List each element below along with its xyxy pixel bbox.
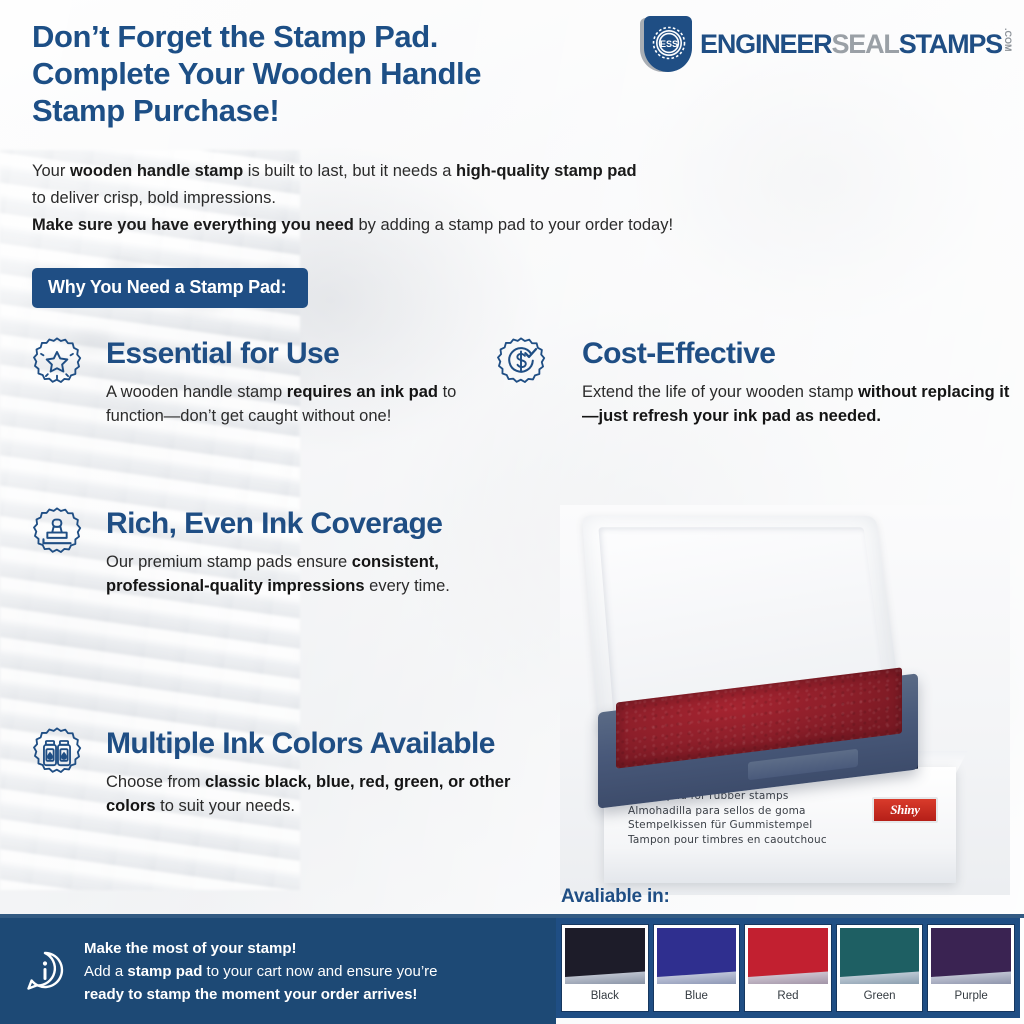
carton-label-fr: Tampon pour timbres en caoutchouc xyxy=(628,833,827,848)
cta-line-3: ready to stamp the moment your order arr… xyxy=(84,983,438,1006)
intro-line1-c: is built to last, but it needs a xyxy=(243,162,456,180)
swatch-color-green xyxy=(840,928,920,984)
stamp-pad-promo-infographic: Don’t Forget the Stamp Pad. Complete You… xyxy=(0,0,1024,1024)
feature-cost-effective: Cost-Effective Extend the life of your w… xyxy=(492,336,1012,428)
feature-body-c: to suit your needs. xyxy=(156,797,295,815)
intro-line1-bold2: high-quality stamp pad xyxy=(456,162,637,180)
swatch-color-purple xyxy=(931,928,1011,984)
tray-notch xyxy=(748,749,858,781)
headline-line-1: Don’t Forget the Stamp Pad. xyxy=(32,18,642,55)
badge-dollar-check-icon xyxy=(492,336,550,394)
intro-line2: to deliver crisp, bold impressions. xyxy=(32,189,276,207)
intro-line1-a: Your xyxy=(32,162,70,180)
info-bubble-icon xyxy=(22,948,68,994)
brand-wordmark: ENGINEER SEAL STAMPS .COM xyxy=(700,30,1012,59)
gear-icon: ESS xyxy=(649,23,689,63)
headline-line-2: Complete Your Wooden Handle xyxy=(32,55,642,92)
swatch-green[interactable]: Green xyxy=(837,925,923,1011)
headline-line-3: Stamp Purchase! xyxy=(32,92,642,129)
swatch-color-blue xyxy=(657,928,737,984)
cta-line2-a: Add a xyxy=(84,963,127,980)
feature-body-a: Our premium stamp pads ensure xyxy=(106,553,352,571)
swatch-blue[interactable]: Blue xyxy=(654,925,740,1011)
header: Don’t Forget the Stamp Pad. Complete You… xyxy=(0,0,1024,145)
feature-body-a: Choose from xyxy=(106,773,205,791)
shiny-brand-logo: Shiny xyxy=(872,797,938,823)
swatch-label: Purple xyxy=(931,984,1011,1008)
brand-logo[interactable]: ESS ENGINEER SEAL STAMPS .COM xyxy=(640,16,1012,72)
cta-line3-bold: ready to stamp the moment your order arr… xyxy=(84,986,417,1003)
shiny-brand-text: Shiny xyxy=(890,802,920,818)
badge-star-icon xyxy=(28,336,86,394)
swatch-label: Green xyxy=(840,984,920,1008)
color-swatch-rail: Black Blue Red Green Purple xyxy=(556,918,1020,1018)
feature-body: A wooden handle stamp requires an ink pa… xyxy=(106,380,478,428)
feature-body-a: A wooden handle stamp xyxy=(106,383,287,401)
badge-ink-bottles-icon xyxy=(28,726,86,784)
wordmark-stamps: STAMPS xyxy=(899,31,1002,58)
feature-body-c: every time. xyxy=(365,577,450,595)
feature-title: Multiple Ink Colors Available xyxy=(106,726,538,761)
section-heading-badge: Why You Need a Stamp Pad: xyxy=(32,268,308,308)
swatch-black[interactable]: Black xyxy=(562,925,648,1011)
feature-title: Cost-Effective xyxy=(582,336,1012,371)
cta-line2-c: to your cart now and ensure you’re xyxy=(202,963,437,980)
cta-text-block: Make the most of your stamp! Add a stamp… xyxy=(84,937,438,1006)
intro-line3-rest: by adding a stamp pad to your order toda… xyxy=(354,216,673,234)
feature-essential-for-use: Essential for Use A wooden handle stamp … xyxy=(28,336,478,428)
cta-line-1: Make the most of your stamp! xyxy=(84,937,438,960)
ess-monogram: ESS xyxy=(660,39,678,49)
swatch-label: Black xyxy=(565,984,645,1008)
feature-body: Our premium stamp pads ensure consistent… xyxy=(106,550,478,598)
feature-body: Choose from classic black, blue, red, gr… xyxy=(106,770,538,818)
feature-body-bold: requires an ink pad xyxy=(287,383,438,401)
swatch-color-red xyxy=(748,928,828,984)
wordmark-engineer: ENGINEER xyxy=(700,31,831,58)
swatch-red[interactable]: Red xyxy=(745,925,831,1011)
swatch-label: Red xyxy=(748,984,828,1008)
cta-banner[interactable]: Make the most of your stamp! Add a stamp… xyxy=(0,918,556,1024)
ess-seal-icon: ESS xyxy=(640,16,696,72)
available-in-title: Avaliable in: xyxy=(561,886,670,908)
page-title: Don’t Forget the Stamp Pad. Complete You… xyxy=(32,18,642,129)
intro-line1-bold1: wooden handle stamp xyxy=(70,162,243,180)
swatch-color-black xyxy=(565,928,645,984)
feature-title: Essential for Use xyxy=(106,336,478,371)
feature-body-a: Extend the life of your wooden stamp xyxy=(582,383,858,401)
feature-body: Extend the life of your wooden stamp wit… xyxy=(582,380,1022,428)
intro-line3-bold: Make sure you have everything you need xyxy=(32,216,354,234)
badge-rubber-stamp-icon xyxy=(28,506,86,564)
swatch-purple[interactable]: Purple xyxy=(928,925,1014,1011)
feature-multiple-ink-colors: Multiple Ink Colors Available Choose fro… xyxy=(28,726,538,818)
carton-label-de: Stempelkissen für Gummistempel xyxy=(628,818,827,833)
cta-line-2: Add a stamp pad to your cart now and ens… xyxy=(84,960,438,983)
swatch-label: Blue xyxy=(657,984,737,1008)
intro-paragraph: Your wooden handle stamp is built to las… xyxy=(32,158,912,239)
wordmark-dotcom: .COM xyxy=(1003,28,1012,52)
product-photo-stamp-pad: Stamp pad for rubber stamps Almohadilla … xyxy=(560,505,1010,895)
feature-title: Rich, Even Ink Coverage xyxy=(106,506,478,541)
carton-label-es: Almohadilla para sellos de goma xyxy=(628,804,827,819)
cta-line2-bold: stamp pad xyxy=(127,963,202,980)
wordmark-seal: SEAL xyxy=(831,31,898,58)
feature-ink-coverage: Rich, Even Ink Coverage Our premium stam… xyxy=(28,506,478,598)
